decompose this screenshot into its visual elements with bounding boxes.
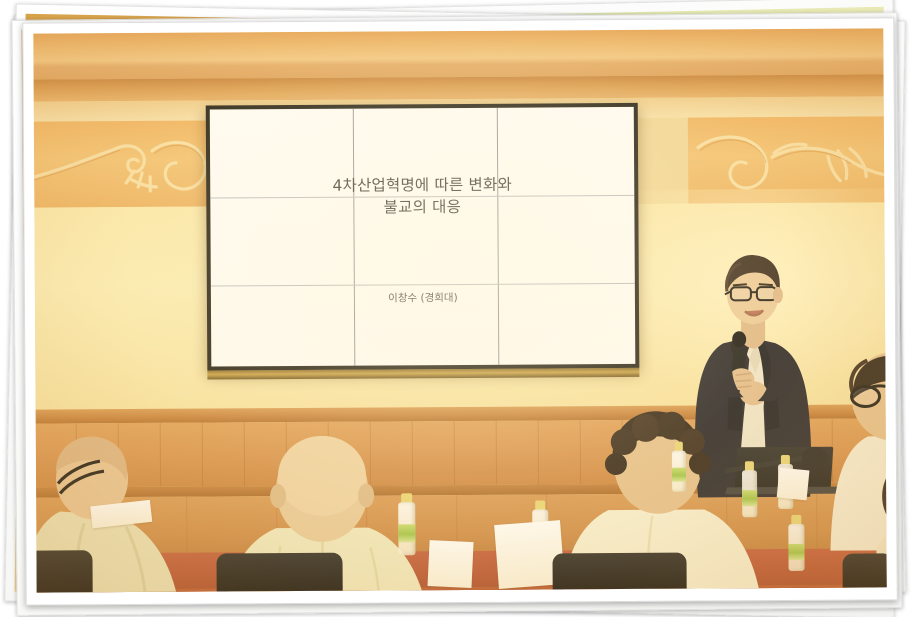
slide-title-line-1: 4차산업혁명에 따른 변화와 — [332, 176, 511, 195]
chair-back-2 — [552, 553, 686, 590]
photo-stage: 4차산업혁명에 따른 변화와 불교의 대응 이창수 (경희대) — [0, 0, 920, 617]
chair-back-3 — [33, 550, 92, 592]
ceiling-soffit — [33, 28, 883, 79]
projection-screen-bezel: 4차산업혁명에 따른 변화와 불교의 대응 이창수 (경희대) — [206, 103, 640, 371]
photograph: 4차산업혁명에 따른 변화와 불교의 대응 이창수 (경희대) — [33, 28, 886, 592]
chair-back-4 — [842, 553, 886, 587]
projection-screen: 4차산업혁명에 따른 변화와 불교의 대응 이창수 (경희대) — [210, 107, 636, 367]
water-bottle-5 — [788, 515, 804, 571]
chair-back-1 — [216, 553, 342, 592]
handout-paper-2 — [428, 540, 474, 588]
slide-title-line-2: 불교의 대응 — [210, 195, 634, 220]
handout-paper-4 — [777, 468, 810, 501]
water-bottle-1 — [398, 493, 415, 555]
photo-frame: 4차산업혁명에 따른 변화와 불교의 대응 이창수 (경희대) — [22, 17, 898, 605]
slide-subtitle: 이창수 (경희대) — [211, 289, 635, 307]
water-bottle-6 — [672, 442, 686, 492]
water-bottle-3 — [742, 461, 757, 517]
slide-title: 4차산업혁명에 따른 변화와 불교의 대응 — [210, 173, 634, 220]
wall-ornament-left — [34, 120, 231, 207]
